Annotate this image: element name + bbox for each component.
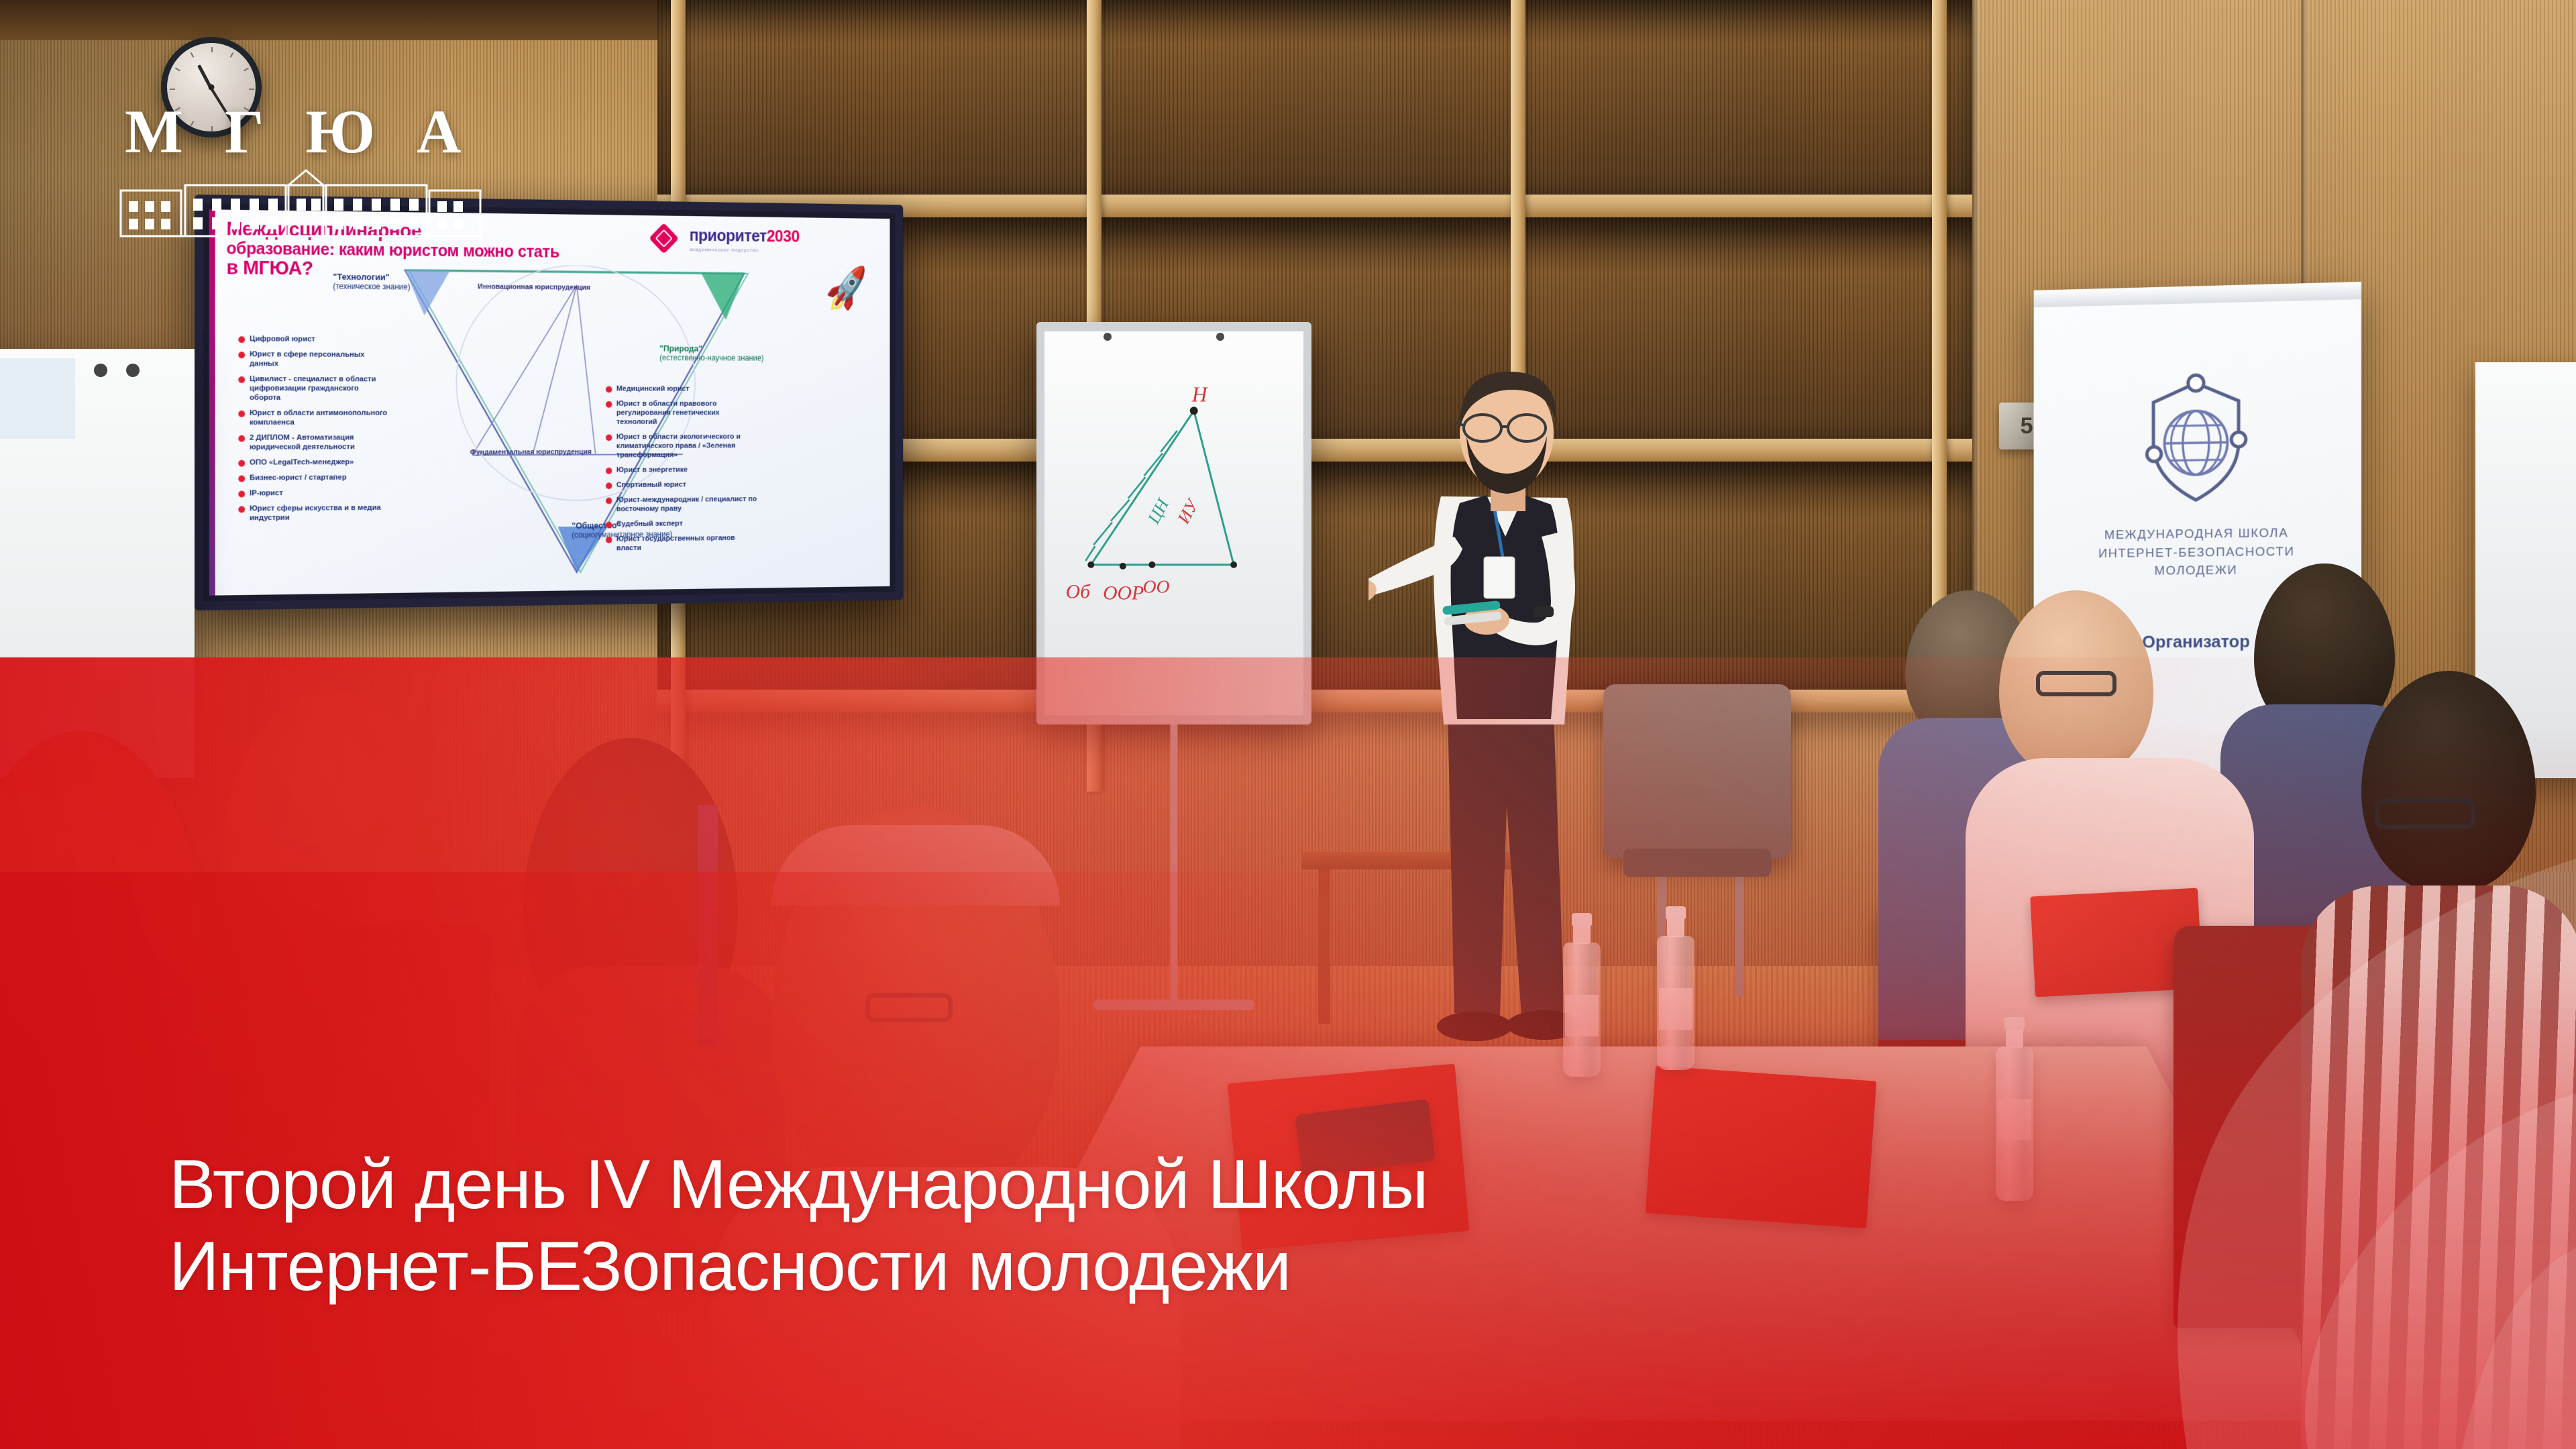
slide-bullet: Спортивный юрист bbox=[606, 480, 761, 490]
slide-bullet: Юрист в области правового регулирования … bbox=[606, 399, 761, 427]
slide-bullet: Юрист сферы искусства и в медиа индустри… bbox=[238, 503, 388, 523]
slide-bullet: Юрист в энергетике bbox=[606, 465, 761, 475]
slide-bullet: IP-юрист bbox=[238, 488, 388, 498]
svg-text:ООР: ООР bbox=[1103, 582, 1144, 604]
slide-bullet: ОПО «LegalTech-менеджер» bbox=[238, 458, 388, 468]
wall-clock bbox=[161, 37, 262, 138]
slide-bullet: Цифровой юрист bbox=[238, 334, 388, 344]
slide-bullet: Судебный эксперт bbox=[606, 519, 761, 529]
slide-bullet: Бизнес-юрист / стартапер bbox=[238, 473, 388, 483]
banner-caption: Второй день IV Международной Школы Интер… bbox=[169, 1144, 1428, 1308]
caption-line-2: Интернет-БЕЗопасности молодежи bbox=[169, 1226, 1428, 1308]
slide-right-bullet-list: Медицинский юристЮрист в области правово… bbox=[606, 384, 761, 559]
slide-bullet: Медицинский юрист bbox=[606, 384, 761, 394]
slide-bullet: Юрист государственных органов власти bbox=[606, 533, 761, 553]
inner-label-innovative: Инновационная юриспруденция bbox=[478, 283, 590, 292]
corner-label-technology: "Технологии" (техническое знание) bbox=[333, 272, 410, 292]
svg-text:ОО: ОО bbox=[1142, 576, 1169, 596]
slide-bullet: Юрист в области экологического и климати… bbox=[606, 432, 761, 460]
globe-shield-icon bbox=[2134, 370, 2259, 511]
svg-text:Об: Об bbox=[1066, 581, 1091, 602]
svg-text:ЦН: ЦН bbox=[1143, 495, 1173, 528]
triangle-diagram: "Технологии" (техническое знание) "Приро… bbox=[209, 262, 890, 595]
priority2030-logo: приоритет2030 академическое лидерство bbox=[690, 226, 873, 254]
slide-left-bullet-list: Цифровой юристЮрист в сфере персональных… bbox=[238, 334, 388, 529]
slide-bullet: Юрист в области антимонопольного комплае… bbox=[238, 409, 388, 427]
slide-content: Междисциплинарное образование: каким юри… bbox=[209, 209, 890, 595]
presentation-screen: Междисциплинарное образование: каким юри… bbox=[195, 195, 903, 610]
slide-bullet: 2 ДИПЛОМ - Автоматизация юридической дея… bbox=[238, 433, 388, 451]
inner-label-fundamental: Фундаментальная юриспруденция bbox=[470, 448, 592, 457]
svg-text:Н: Н bbox=[1191, 382, 1209, 406]
slide-bullet: Юрист-международник / специалист по вост… bbox=[606, 494, 761, 514]
svg-text:ИУ: ИУ bbox=[1173, 495, 1203, 528]
corner-label-nature: "Природа" (естественно-научное знание) bbox=[659, 344, 763, 363]
slide-bullet: Цивилист - специалист в области цифровиз… bbox=[238, 374, 388, 402]
slide-bullet: Юрист в сфере персональных данных bbox=[238, 350, 388, 368]
caption-line-1: Второй день IV Международной Школы bbox=[169, 1146, 1428, 1224]
photo-banner: 508 Междисциплинарное образование: каким… bbox=[0, 0, 2576, 1449]
